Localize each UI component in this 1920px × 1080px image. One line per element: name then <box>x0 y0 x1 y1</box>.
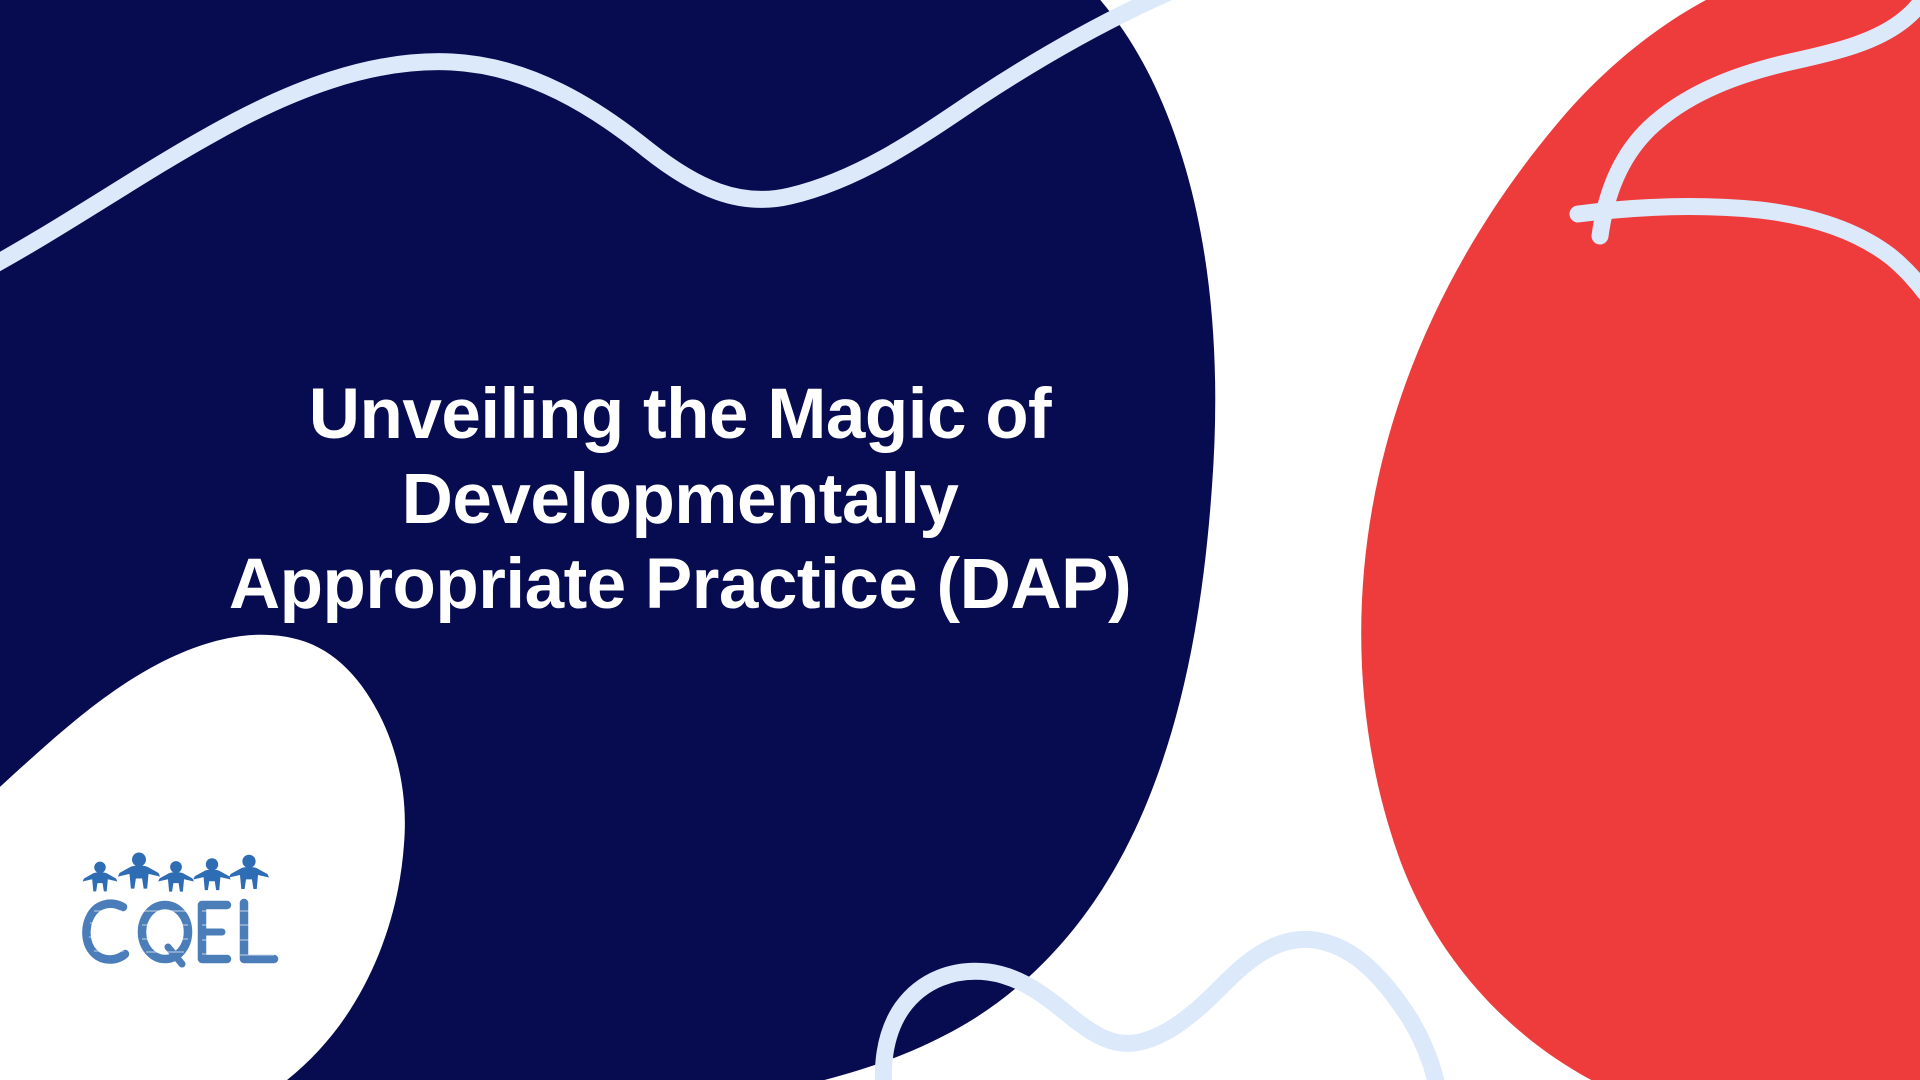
children-figures <box>83 853 269 892</box>
page-title: Unveiling the Magic of Developmentally A… <box>150 372 1210 627</box>
cqel-logo <box>72 845 287 970</box>
title-line-3: Appropriate Practice (DAP) <box>150 542 1210 627</box>
slide-canvas: Unveiling the Magic of Developmentally A… <box>0 0 1920 1080</box>
title-line-2: Developmentally <box>150 457 1210 542</box>
cqel-logo-svg <box>72 845 287 970</box>
title-line-1: Unveiling the Magic of <box>150 372 1210 457</box>
